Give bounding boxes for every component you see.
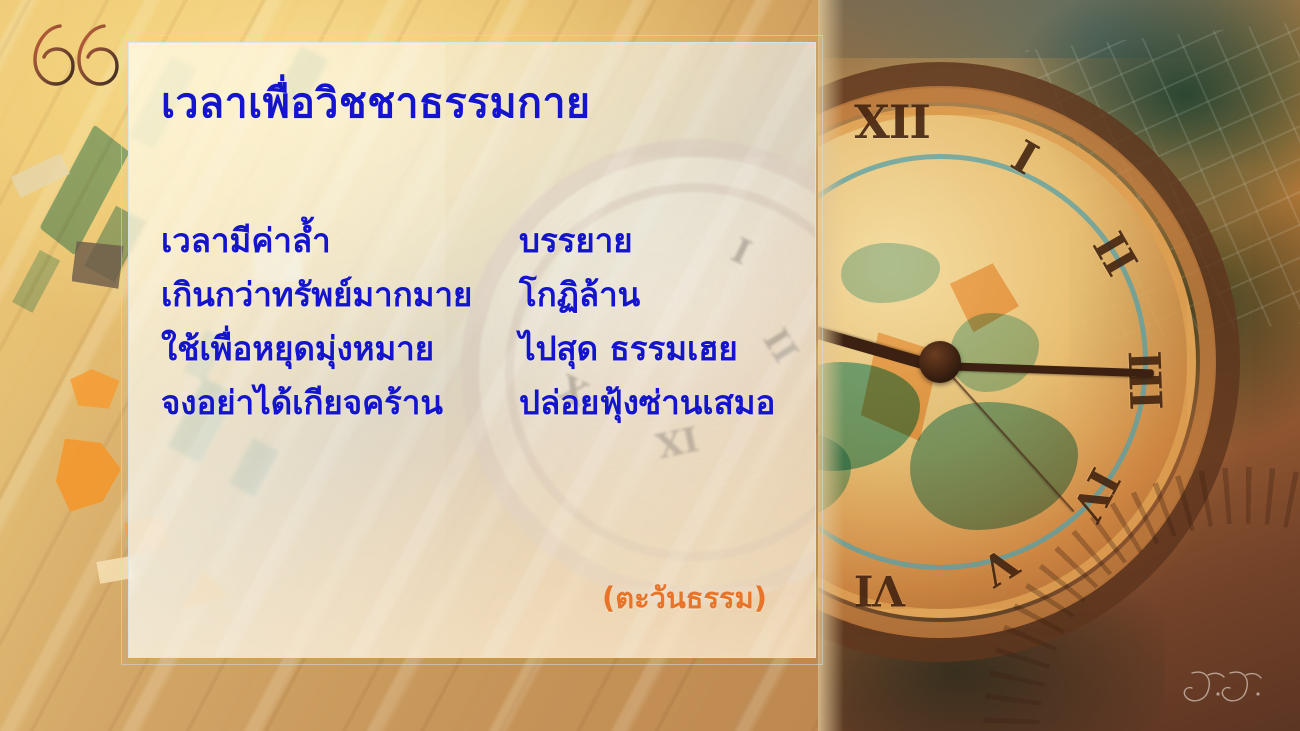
quote-slide: XIXIIIIIIIIIVVVIVII: [0, 0, 1300, 731]
verse-line-left: เกินกว่าทรัพย์มากมาย: [161, 268, 519, 322]
attribution: (ตะวันธรรม): [129, 575, 767, 621]
verse-line-right: ปล่อยฟุ้งซ่านเสมอ: [519, 376, 775, 430]
verse-line: จงอย่าได้เกียจคร้านปล่อยฟุ้งซ่านเสมอ: [161, 376, 815, 430]
card-body: เวลาเพื่อวิชชาธรรมกาย เวลามีค่าล้ำบรรยาย…: [129, 43, 815, 429]
clock-center-hub: [919, 341, 961, 383]
page-title: เวลาเพื่อวิชชาธรรมกาย: [161, 79, 815, 128]
clock-numeral: III: [1117, 350, 1170, 410]
verse-line-right: โกฏิล้าน: [519, 268, 640, 322]
verse-line-left: ใช้เพื่อหยุดมุ่งหมาย: [161, 322, 519, 376]
background-brown-shape: [72, 241, 124, 289]
clock-photo-panel: XIXIIIIIIIIIVVVIVII: [818, 0, 1300, 731]
clock-numeral: VI: [855, 566, 905, 615]
verse-line-left: เวลามีค่าล้ำ: [161, 214, 519, 268]
verse-line-left: จงอย่าได้เกียจคร้าน: [161, 376, 519, 430]
open-quote-icon: [26, 14, 122, 98]
verse-line: ใช้เพื่อหยุดมุ่งหมายไปสุด ธรรมเฮย: [161, 322, 815, 376]
verse-line: เกินกว่าทรัพย์มากมายโกฏิล้าน: [161, 268, 815, 322]
verse-block: เวลามีค่าล้ำบรรยายเกินกว่าทรัพย์มากมายโก…: [161, 214, 815, 429]
clock-numeral: XII: [854, 95, 930, 149]
artist-signature-icon: [1178, 659, 1274, 713]
verse-line: เวลามีค่าล้ำบรรยาย: [161, 214, 815, 268]
quote-card: IIIIXX เวลาเพื่อวิชชาธรรมกาย เวลามีค่าล้…: [128, 42, 816, 658]
verse-line-right: บรรยาย: [519, 214, 633, 268]
verse-line-right: ไปสุด ธรรมเฮย: [519, 322, 738, 376]
